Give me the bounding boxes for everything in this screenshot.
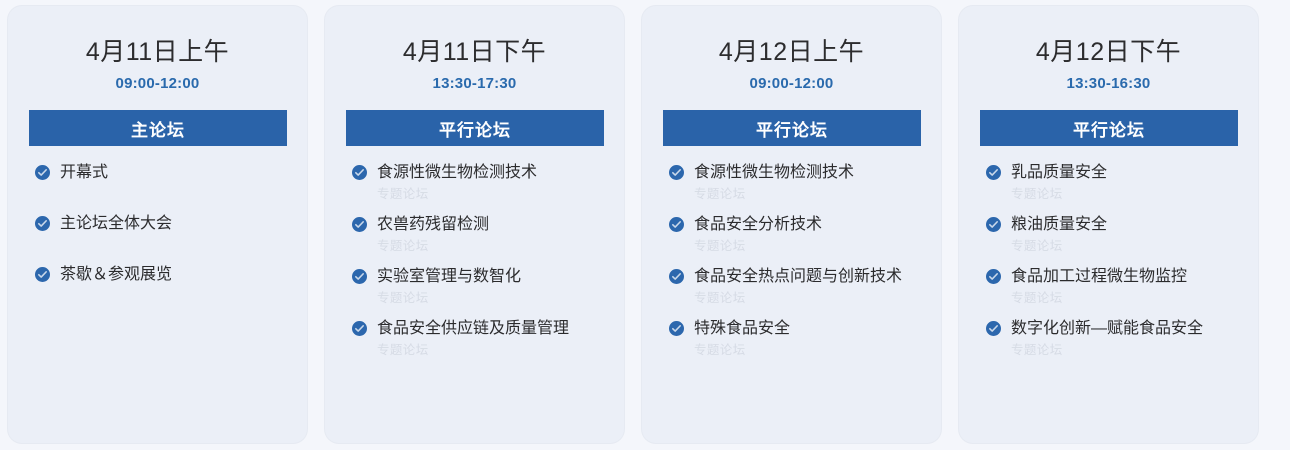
- check-circle-icon: [669, 217, 684, 232]
- session-name: 主论坛全体大会: [60, 213, 293, 234]
- day-title: 4月12日上午: [642, 6, 941, 67]
- check-circle-icon: [352, 217, 367, 232]
- check-circle-icon: [35, 267, 50, 282]
- day-time-range: 09:00-12:00: [642, 67, 941, 93]
- session-kind: 专题论坛: [694, 287, 927, 307]
- day-time-range: 13:30-16:30: [959, 67, 1258, 93]
- check-circle-icon: [352, 321, 367, 336]
- session-kind: 专题论坛: [377, 183, 610, 203]
- list-item[interactable]: 数字化创新—赋能食品安全 专题论坛: [986, 318, 1244, 359]
- list-item[interactable]: 食品安全热点问题与创新技术 专题论坛: [669, 266, 927, 307]
- session-name: 食品加工过程微生物监控: [1011, 266, 1244, 287]
- session-name: 乳品质量安全: [1011, 162, 1244, 183]
- list-item[interactable]: 食源性微生物检测技术 专题论坛: [352, 162, 610, 203]
- session-name: 数字化创新—赋能食品安全: [1011, 318, 1244, 339]
- check-circle-icon: [669, 321, 684, 336]
- day-title: 4月11日下午: [325, 6, 624, 67]
- session-name: 开幕式: [60, 162, 293, 183]
- check-circle-icon: [669, 269, 684, 284]
- schedule-board: 4月11日上午 09:00-12:00 主论坛 开幕式: [0, 0, 1290, 450]
- list-item[interactable]: 食源性微生物检测技术 专题论坛: [669, 162, 927, 203]
- session-list: 开幕式 主论坛全体大会: [8, 146, 307, 285]
- session-kind: 专题论坛: [1011, 235, 1244, 255]
- list-item[interactable]: 乳品质量安全 专题论坛: [986, 162, 1244, 203]
- check-circle-icon: [669, 165, 684, 180]
- session-kind: 专题论坛: [694, 339, 927, 359]
- session-kind: 专题论坛: [377, 287, 610, 307]
- list-item[interactable]: 粮油质量安全 专题论坛: [986, 214, 1244, 255]
- forum-type-banner[interactable]: 平行论坛: [346, 110, 604, 146]
- list-item[interactable]: 开幕式: [35, 162, 293, 183]
- check-circle-icon: [352, 165, 367, 180]
- session-name: 粮油质量安全: [1011, 214, 1244, 235]
- list-item[interactable]: 食品安全分析技术 专题论坛: [669, 214, 927, 255]
- day-title: 4月12日下午: [959, 6, 1258, 67]
- list-item[interactable]: 农兽药残留检测 专题论坛: [352, 214, 610, 255]
- check-circle-icon: [35, 165, 50, 180]
- day-time-range: 13:30-17:30: [325, 67, 624, 93]
- session-name: 特殊食品安全: [694, 318, 927, 339]
- session-name: 茶歇＆参观展览: [60, 264, 293, 285]
- list-item[interactable]: 食品加工过程微生物监控 专题论坛: [986, 266, 1244, 307]
- day-card-3: 4月12日上午 09:00-12:00 平行论坛 食源性微生物检测技术 专题论坛: [642, 6, 941, 443]
- check-circle-icon: [352, 269, 367, 284]
- session-kind: 专题论坛: [694, 235, 927, 255]
- check-circle-icon: [986, 321, 1001, 336]
- session-name: 食品安全供应链及质量管理: [377, 318, 610, 339]
- list-item[interactable]: 实验室管理与数智化 专题论坛: [352, 266, 610, 307]
- session-kind: 专题论坛: [1011, 339, 1244, 359]
- list-item[interactable]: 食品安全供应链及质量管理 专题论坛: [352, 318, 610, 359]
- session-kind: 专题论坛: [694, 183, 927, 203]
- session-name: 食源性微生物检测技术: [694, 162, 927, 183]
- check-circle-icon: [986, 165, 1001, 180]
- list-item[interactable]: 特殊食品安全 专题论坛: [669, 318, 927, 359]
- forum-type-banner[interactable]: 平行论坛: [663, 110, 921, 146]
- check-circle-icon: [986, 217, 1001, 232]
- day-time-range: 09:00-12:00: [8, 67, 307, 93]
- session-name: 农兽药残留检测: [377, 214, 610, 235]
- session-kind: 专题论坛: [1011, 287, 1244, 307]
- session-name: 食品安全热点问题与创新技术: [694, 266, 927, 287]
- day-card-2: 4月11日下午 13:30-17:30 平行论坛 食源性微生物检测技术 专题论坛: [325, 6, 624, 443]
- day-card-4: 4月12日下午 13:30-16:30 平行论坛 乳品质量安全 专题论坛: [959, 6, 1258, 443]
- day-title: 4月11日上午: [8, 6, 307, 67]
- session-list: 食源性微生物检测技术 专题论坛 食品安全分析技术 专题论坛: [642, 146, 941, 359]
- session-name: 实验室管理与数智化: [377, 266, 610, 287]
- session-name: 食品安全分析技术: [694, 214, 927, 235]
- session-kind: 专题论坛: [377, 235, 610, 255]
- session-name: 食源性微生物检测技术: [377, 162, 610, 183]
- session-list: 乳品质量安全 专题论坛 粮油质量安全 专题论坛: [959, 146, 1258, 359]
- check-circle-icon: [986, 269, 1001, 284]
- check-circle-icon: [35, 216, 50, 231]
- forum-type-banner[interactable]: 主论坛: [29, 110, 287, 146]
- list-item[interactable]: 茶歇＆参观展览: [35, 264, 293, 285]
- day-card-1: 4月11日上午 09:00-12:00 主论坛 开幕式: [8, 6, 307, 443]
- session-kind: 专题论坛: [1011, 183, 1244, 203]
- list-item[interactable]: 主论坛全体大会: [35, 213, 293, 234]
- session-kind: 专题论坛: [377, 339, 610, 359]
- session-list: 食源性微生物检测技术 专题论坛 农兽药残留检测 专题论坛: [325, 146, 624, 359]
- forum-type-banner[interactable]: 平行论坛: [980, 110, 1238, 146]
